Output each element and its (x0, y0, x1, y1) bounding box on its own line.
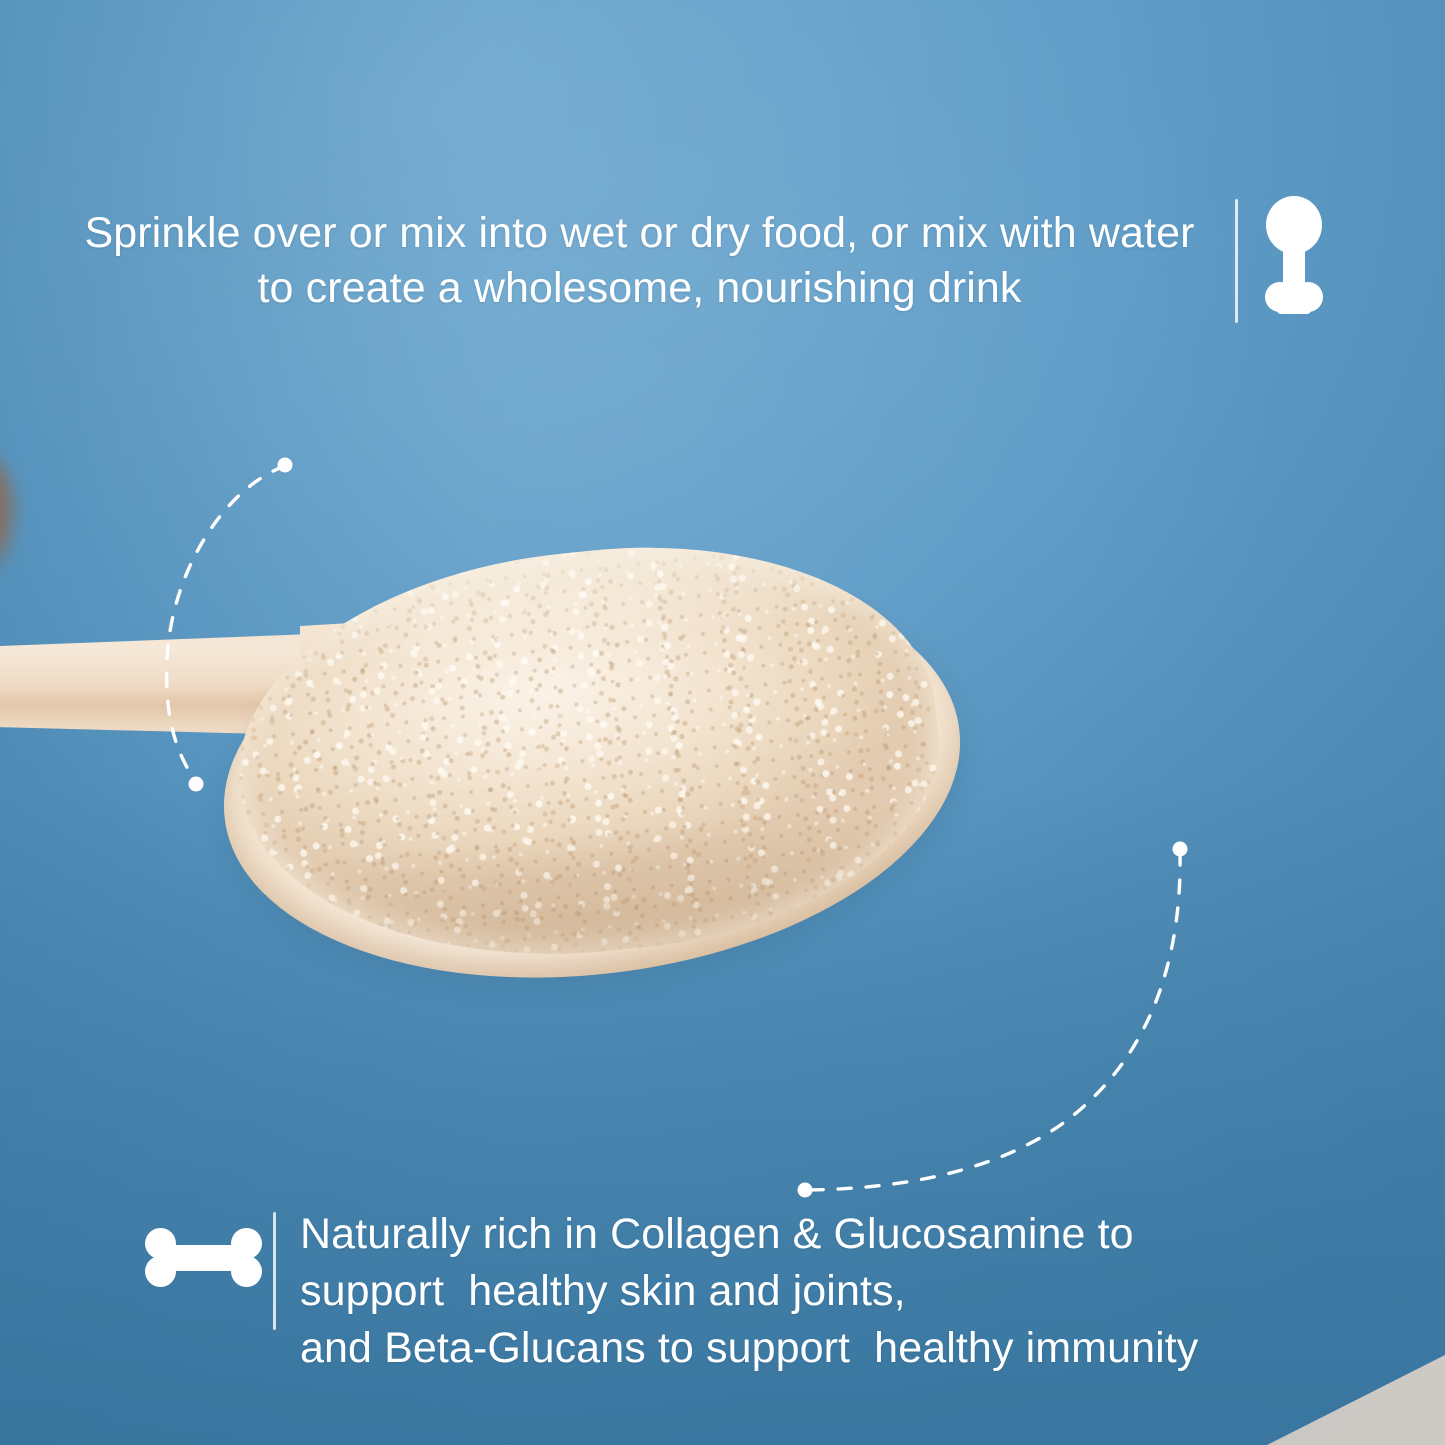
drumstick-foot-left (1265, 282, 1295, 312)
callout-top: Sprinkle over or mix into wet or dry foo… (70, 196, 1350, 326)
drumstick-foot-right (1293, 282, 1323, 312)
product-infographic-canvas: Sprinkle over or mix into wet or dry foo… (0, 0, 1445, 1445)
callout-bottom-text: Naturally rich in Collagen & Glucosamine… (276, 1206, 1405, 1376)
dog-bone-icon (145, 1228, 263, 1288)
callout-bottom: Naturally rich in Collagen & Glucosamine… (145, 1206, 1405, 1376)
callout-top-text: Sprinkle over or mix into wet or dry foo… (70, 206, 1235, 316)
callout-bottom-line-3: and Beta-Glucans to support healthy immu… (300, 1320, 1405, 1377)
callout-bottom-line-2: support healthy skin and joints, (300, 1263, 1405, 1320)
dog-bone-knob-tr (231, 1228, 262, 1259)
drumstick-bone-icon (1263, 196, 1325, 326)
callout-bottom-line-1: Naturally rich in Collagen & Glucosamine… (300, 1206, 1405, 1263)
dog-bone-knob-bl (145, 1256, 176, 1287)
callout-top-icon-slot (1238, 196, 1350, 326)
callout-bottom-icon-slot (145, 1206, 273, 1288)
dog-bone-knob-br (231, 1256, 262, 1287)
wooden-spoon-photo (0, 560, 1010, 1000)
powder-mound (219, 517, 957, 988)
dog-bone-knob-tl (145, 1228, 176, 1259)
